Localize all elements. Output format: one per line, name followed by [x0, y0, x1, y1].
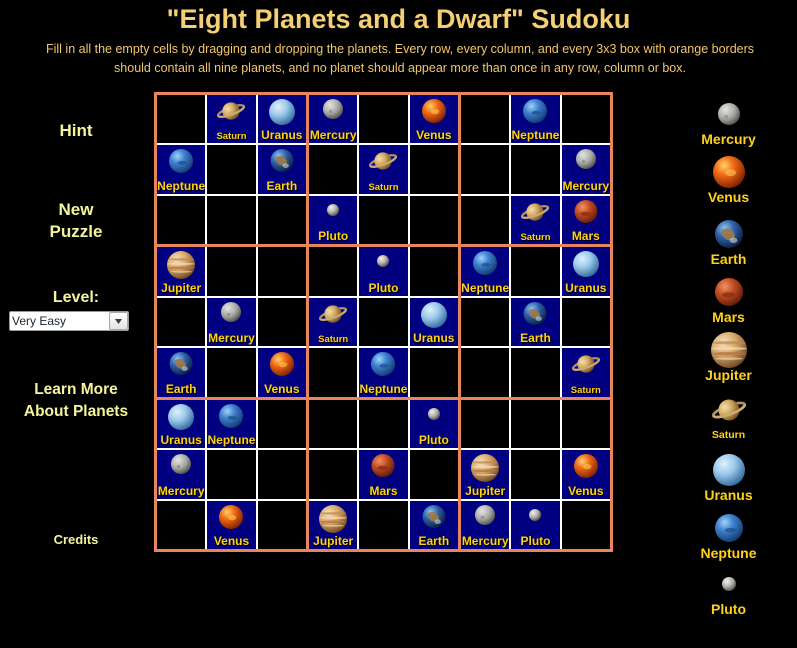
palette-label-saturn: Saturn [660, 428, 797, 443]
palette-item-saturn[interactable]: Saturn [660, 390, 797, 443]
uranus-icon [168, 404, 194, 430]
earth-icon[interactable] [660, 214, 797, 254]
neptune-icon [523, 99, 547, 123]
cell-planet-label: Mercury [461, 535, 509, 548]
saturn-icon[interactable] [660, 390, 797, 430]
cell-r4-c9[interactable]: Uranus [562, 247, 610, 295]
cell-r9-c3[interactable] [258, 501, 306, 549]
cell-r6-c9[interactable]: Saturn [562, 348, 610, 396]
cell-planet-label: Jupiter [309, 535, 357, 548]
cell-r5-c8[interactable]: Earth [511, 298, 559, 346]
mercury-icon [221, 302, 241, 322]
cell-r4-c5[interactable]: Pluto [359, 247, 407, 295]
cell-r3-c1[interactable] [157, 196, 205, 244]
cell-r7-c7[interactable] [461, 400, 509, 448]
cell-r5-c6[interactable]: Uranus [410, 298, 458, 346]
pluto-icon [529, 509, 541, 521]
cell-r7-c9[interactable] [562, 400, 610, 448]
palette-label-jupiter: Jupiter [660, 368, 797, 383]
new-puzzle-button[interactable]: New Puzzle [0, 199, 152, 243]
jupiter-icon [471, 454, 499, 482]
sudoku-app: "Eight Planets and a Dwarf" Sudoku Fill … [0, 0, 797, 648]
cell-planet-label: Mars [359, 485, 407, 498]
cell-r8-c4[interactable] [309, 450, 357, 498]
cell-r3-c2[interactable] [207, 196, 255, 244]
cell-r4-c4[interactable] [309, 247, 357, 295]
neptune-icon [169, 149, 193, 173]
sudoku-box-3: NeptuneMercurySaturnMars [461, 95, 610, 244]
palette-label-venus: Venus [660, 190, 797, 205]
palette-label-uranus: Uranus [660, 488, 797, 503]
cell-planet-label: Neptune [461, 282, 509, 295]
cell-r4-c2[interactable] [207, 247, 255, 295]
cell-r5-c4[interactable]: Saturn [309, 298, 357, 346]
palette-item-uranus[interactable]: Uranus [660, 450, 797, 503]
cell-r6-c8[interactable] [511, 348, 559, 396]
palette-label-mars: Mars [660, 310, 797, 325]
cell-r8-c7[interactable]: Jupiter [461, 450, 509, 498]
cell-r3-c3[interactable] [258, 196, 306, 244]
pluto-icon [327, 204, 339, 216]
cell-r1-c2[interactable]: Saturn [207, 95, 255, 143]
cell-r9-c9[interactable] [562, 501, 610, 549]
cell-planet-label: Neptune [511, 129, 559, 142]
neptune-icon [219, 404, 243, 428]
cell-r3-c9[interactable]: Mars [562, 196, 610, 244]
cell-r7-c3[interactable] [258, 400, 306, 448]
cell-planet-label: Saturn [207, 131, 255, 142]
venus-icon [270, 352, 294, 376]
cell-r8-c6[interactable] [410, 450, 458, 498]
palette-item-pluto[interactable]: Pluto [660, 564, 797, 617]
sidebar: Hint New Puzzle Level: Very EasyEasyMedi… [0, 92, 152, 557]
mercury-icon[interactable] [660, 94, 797, 134]
uranus-icon [269, 99, 295, 125]
pluto-icon[interactable] [660, 564, 797, 604]
earth-icon [422, 505, 445, 528]
palette-label-earth: Earth [660, 252, 797, 267]
cell-r2-c5[interactable]: Saturn [359, 145, 407, 193]
uranus-icon [421, 302, 447, 328]
cell-planet-label: Saturn [511, 232, 559, 243]
mercury-icon [475, 505, 495, 525]
cell-r3-c4[interactable]: Pluto [309, 196, 357, 244]
cell-r3-c7[interactable] [461, 196, 509, 244]
palette-item-earth[interactable]: Earth [660, 214, 797, 267]
cell-r8-c3[interactable] [258, 450, 306, 498]
palette-item-mars[interactable]: Mars [660, 272, 797, 325]
cell-planet-label: Earth [157, 383, 205, 396]
cell-planet-label: Mercury [309, 129, 357, 142]
cell-r9-c4[interactable]: Jupiter [309, 501, 357, 549]
cell-r5-c5[interactable] [359, 298, 407, 346]
instructions-text: Fill in all the empty cells by dragging … [40, 40, 760, 78]
cell-r6-c7[interactable] [461, 348, 509, 396]
cell-r8-c9[interactable]: Venus [562, 450, 610, 498]
pluto-icon [377, 255, 389, 267]
cell-r2-c4[interactable] [309, 145, 357, 193]
cell-r2-c1[interactable]: Neptune [157, 145, 205, 193]
cell-r8-c8[interactable] [511, 450, 559, 498]
hint-button[interactable]: Hint [0, 120, 152, 142]
level-select[interactable]: Very EasyEasyMediumHardVery Hard [9, 311, 129, 331]
cell-planet-label: Earth [511, 332, 559, 345]
planet-palette: MercuryVenusEarthMarsJupiterSaturnUranus… [660, 94, 797, 559]
cell-r2-c9[interactable]: Mercury [562, 145, 610, 193]
cell-r2-c7[interactable] [461, 145, 509, 193]
sudoku-box-2: MercuryVenusSaturnPluto [309, 95, 458, 244]
cell-r1-c1[interactable] [157, 95, 205, 143]
level-label: Level: [0, 287, 152, 309]
cell-planet-label: Saturn [562, 385, 610, 396]
cell-r2-c3[interactable]: Earth [258, 145, 306, 193]
level-select-wrapper[interactable]: Very EasyEasyMediumHardVery Hard [9, 311, 129, 331]
cell-planet-label: Jupiter [157, 282, 205, 295]
cell-r5-c2[interactable]: Mercury [207, 298, 255, 346]
cell-r7-c4[interactable] [309, 400, 357, 448]
cell-r3-c8[interactable]: Saturn [511, 196, 559, 244]
cell-r7-c6[interactable]: Pluto [410, 400, 458, 448]
saturn-icon [572, 350, 600, 378]
mars-icon [574, 200, 597, 223]
palette-item-mercury[interactable]: Mercury [660, 94, 797, 147]
palette-label-neptune: Neptune [660, 546, 797, 561]
cell-r7-c5[interactable] [359, 400, 407, 448]
cell-planet-label: Uranus [562, 282, 610, 295]
cell-planet-label: Neptune [207, 434, 255, 447]
jupiter-icon [319, 505, 347, 533]
saturn-icon [521, 198, 549, 226]
cell-r4-c3[interactable] [258, 247, 306, 295]
uranus-icon [573, 251, 599, 277]
palette-item-jupiter[interactable]: Jupiter [660, 330, 797, 383]
cell-r6-c1[interactable]: Earth [157, 348, 205, 396]
uranus-icon[interactable] [660, 450, 797, 490]
cell-planet-label: Earth [258, 180, 306, 193]
cell-r1-c5[interactable] [359, 95, 407, 143]
cell-planet-label: Venus [410, 129, 458, 142]
cell-r6-c5[interactable]: Neptune [359, 348, 407, 396]
cell-planet-label: Mars [562, 230, 610, 243]
learn-more-line2: About Planets [0, 401, 152, 423]
cell-planet-label: Pluto [511, 535, 559, 548]
cell-r1-c4[interactable]: Mercury [309, 95, 357, 143]
cell-planet-label: Uranus [258, 129, 306, 142]
cell-r6-c3[interactable]: Venus [258, 348, 306, 396]
venus-icon [574, 454, 598, 478]
pluto-icon [428, 408, 440, 420]
mercury-icon [323, 99, 343, 119]
sudoku-box-1: SaturnUranusNeptuneEarth [157, 95, 306, 244]
cell-planet-label: Earth [410, 535, 458, 548]
cell-planet-label: Neptune [157, 180, 205, 193]
cell-r5-c7[interactable] [461, 298, 509, 346]
cell-r4-c1[interactable]: Jupiter [157, 247, 205, 295]
cell-r7-c2[interactable]: Neptune [207, 400, 255, 448]
jupiter-icon[interactable] [660, 330, 797, 370]
cell-planet-label: Mercury [207, 332, 255, 345]
venus-icon[interactable] [660, 152, 797, 192]
new-puzzle-line2: Puzzle [0, 221, 152, 243]
learn-more-about-planets-link[interactable]: Learn More About Planets [0, 379, 152, 423]
saturn-icon [369, 147, 397, 175]
cell-r2-c2[interactable] [207, 145, 255, 193]
cell-r9-c7[interactable]: Mercury [461, 501, 509, 549]
cell-r6-c6[interactable] [410, 348, 458, 396]
cell-r4-c8[interactable] [511, 247, 559, 295]
cell-r3-c5[interactable] [359, 196, 407, 244]
mercury-icon [171, 454, 191, 474]
palette-label-pluto: Pluto [660, 602, 797, 617]
palette-item-venus[interactable]: Venus [660, 152, 797, 205]
jupiter-icon [167, 251, 195, 279]
cell-planet-label: Uranus [157, 434, 205, 447]
neptune-icon [371, 352, 395, 376]
cell-planet-label: Pluto [410, 434, 458, 447]
cell-r1-c7[interactable] [461, 95, 509, 143]
cell-r6-c4[interactable] [309, 348, 357, 396]
saturn-icon [217, 97, 245, 125]
cell-r5-c1[interactable] [157, 298, 205, 346]
cell-planet-label: Saturn [359, 182, 407, 193]
cell-planet-label: Mercury [157, 485, 205, 498]
cell-r8-c5[interactable]: Mars [359, 450, 407, 498]
sudoku-box-7: UranusNeptuneMercuryVenus [157, 400, 306, 549]
credits-link[interactable]: Credits [0, 529, 152, 551]
cell-planet-label: Jupiter [461, 485, 509, 498]
cell-r9-c6[interactable]: Earth [410, 501, 458, 549]
sudoku-box-4: JupiterMercuryEarthVenus [157, 247, 306, 396]
cell-r9-c8[interactable]: Pluto [511, 501, 559, 549]
cell-r7-c1[interactable]: Uranus [157, 400, 205, 448]
cell-r2-c6[interactable] [410, 145, 458, 193]
sudoku-box-5: PlutoSaturnUranusNeptune [309, 247, 458, 396]
sudoku-box-9: JupiterVenusMercuryPluto [461, 400, 610, 549]
cell-r1-c3[interactable]: Uranus [258, 95, 306, 143]
earth-icon [270, 149, 293, 172]
cell-planet-label: Neptune [359, 383, 407, 396]
cell-r9-c5[interactable] [359, 501, 407, 549]
cell-planet-label: Saturn [309, 334, 357, 345]
cell-planet-label: Uranus [410, 332, 458, 345]
sudoku-board[interactable]: SaturnUranusNeptuneEarthMercuryVenusSatu… [154, 92, 613, 552]
mars-icon[interactable] [660, 272, 797, 312]
cell-planet-label: Pluto [309, 230, 357, 243]
venus-icon [219, 505, 243, 529]
venus-icon [422, 99, 446, 123]
sudoku-box-8: PlutoMarsJupiterEarth [309, 400, 458, 549]
neptune-icon[interactable] [660, 508, 797, 548]
sudoku-box-6: NeptuneUranusEarthSaturn [461, 247, 610, 396]
earth-icon [524, 302, 547, 325]
new-puzzle-line1: New [0, 199, 152, 221]
learn-more-line1: Learn More [0, 379, 152, 401]
cell-r1-c6[interactable]: Venus [410, 95, 458, 143]
cell-r2-c8[interactable] [511, 145, 559, 193]
cell-r3-c6[interactable] [410, 196, 458, 244]
cell-r4-c7[interactable]: Neptune [461, 247, 509, 295]
cell-planet-label: Pluto [359, 282, 407, 295]
cell-planet-label: Venus [258, 383, 306, 396]
cell-planet-label: Venus [562, 485, 610, 498]
page-title: "Eight Planets and a Dwarf" Sudoku [0, 0, 797, 36]
cell-r1-c8[interactable]: Neptune [511, 95, 559, 143]
cell-r5-c3[interactable] [258, 298, 306, 346]
cell-r9-c1[interactable] [157, 501, 205, 549]
palette-item-neptune[interactable]: Neptune [660, 508, 797, 561]
mars-icon [372, 454, 395, 477]
cell-r4-c6[interactable] [410, 247, 458, 295]
cell-r8-c1[interactable]: Mercury [157, 450, 205, 498]
mercury-icon [576, 149, 596, 169]
earth-icon [170, 352, 193, 375]
neptune-icon [473, 251, 497, 275]
saturn-icon [319, 300, 347, 328]
cell-r8-c2[interactable] [207, 450, 255, 498]
cell-r6-c2[interactable] [207, 348, 255, 396]
cell-planet-label: Mercury [562, 180, 610, 193]
cell-r1-c9[interactable] [562, 95, 610, 143]
cell-r9-c2[interactable]: Venus [207, 501, 255, 549]
cell-r5-c9[interactable] [562, 298, 610, 346]
cell-r7-c8[interactable] [511, 400, 559, 448]
palette-label-mercury: Mercury [660, 132, 797, 147]
cell-planet-label: Venus [207, 535, 255, 548]
